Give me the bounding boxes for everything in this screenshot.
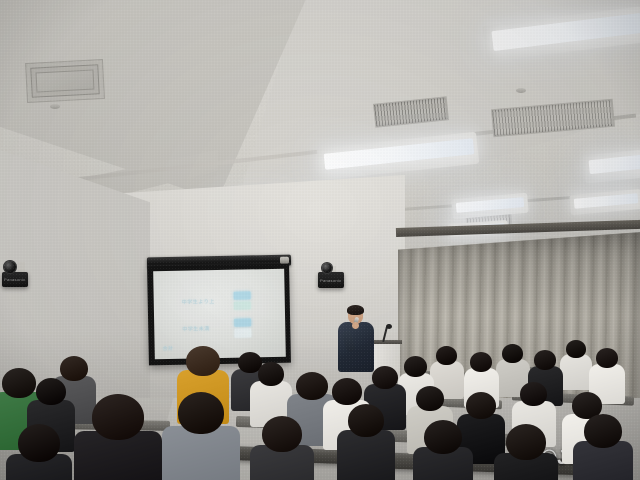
audience-member-head xyxy=(424,420,462,454)
presenter-hand xyxy=(352,322,359,329)
audience-member-head xyxy=(502,344,523,363)
audience-member-head xyxy=(348,404,384,437)
audience-member-head xyxy=(506,424,546,460)
audience-member-head xyxy=(262,416,302,452)
slide-cell xyxy=(234,318,251,326)
presenter-torso xyxy=(338,322,374,372)
audience-member-head xyxy=(416,386,444,411)
audience-member-torso xyxy=(337,430,395,480)
audience-member-head xyxy=(534,350,556,370)
slide-text-line: 中学生未満 xyxy=(182,325,210,333)
audience-member-head xyxy=(92,394,144,440)
slide-text-line: 中学生より上 xyxy=(181,298,214,306)
audience-member-head xyxy=(296,372,328,400)
photo-scene: Panasonic Panasonic 中学生より上中学生未満合計 xyxy=(0,0,640,480)
smoke-detector-icon xyxy=(50,104,60,109)
audience-member-head xyxy=(470,352,492,372)
audience-member-head xyxy=(18,424,60,462)
wall-camera-icon: Panasonic xyxy=(2,272,28,287)
audience-member-head xyxy=(596,348,618,368)
audience-member-head xyxy=(258,362,284,386)
audience-member-head xyxy=(2,368,36,398)
audience-member-torso xyxy=(560,354,592,390)
audience-member-head xyxy=(584,414,622,448)
lectern-microphone-head xyxy=(386,324,392,329)
camera-brand-label: Panasonic xyxy=(4,277,25,282)
audience-member-head xyxy=(436,346,457,365)
camera-lens-icon xyxy=(322,263,332,273)
slide-cell xyxy=(233,301,250,309)
audience-member-head xyxy=(60,356,88,381)
slide-cell xyxy=(234,328,251,337)
audience-member-head xyxy=(566,340,586,358)
lectern-top xyxy=(372,340,402,344)
camera-bracket xyxy=(18,262,25,272)
projection-screen: 中学生より上中学生未満合計 xyxy=(153,269,286,359)
slide-cell xyxy=(233,291,250,299)
camera-brand-label: Panasonic xyxy=(320,278,341,283)
audience-member-head xyxy=(372,366,398,389)
slide-text-line: 合計 xyxy=(162,345,173,352)
audience-member-head xyxy=(178,392,224,434)
camera-lens-icon xyxy=(4,261,16,273)
wall-camera-icon: Panasonic xyxy=(318,272,344,288)
air-diffuser-icon xyxy=(25,59,105,103)
audience-member-head xyxy=(332,378,362,405)
audience-member-head xyxy=(36,378,66,405)
audience-member-head xyxy=(186,346,220,376)
presenter-hair xyxy=(347,305,364,315)
audience-member-head xyxy=(466,392,496,419)
audience-member-head xyxy=(404,356,427,377)
smoke-detector-icon xyxy=(516,88,526,93)
audience-member-head xyxy=(520,382,547,406)
